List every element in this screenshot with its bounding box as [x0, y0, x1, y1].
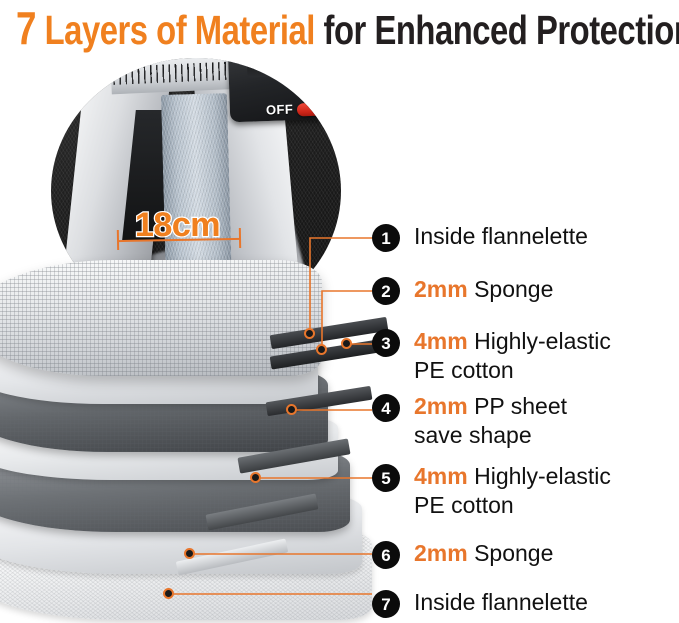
layer-5-measure: 4mm [414, 463, 468, 489]
layer-5-name: Highly-elastic [468, 463, 611, 489]
layer-3-name: Highly-elastic [468, 328, 611, 354]
layer-3-measure: 4mm [414, 328, 468, 354]
layer-label-1-text: Inside flannelette [414, 222, 588, 251]
layer-label-6: 6 2mm Sponge [372, 539, 553, 569]
layer-6-measure: 2mm [414, 540, 468, 566]
layer-4-measure: 2mm [414, 393, 468, 419]
page-title: 7 Layers of Material for Enhanced Protec… [0, 2, 679, 54]
layer-label-3: 3 4mm Highly-elastic PE cotton [372, 327, 611, 385]
layer-badge-1: 1 [372, 224, 400, 252]
layer-label-2: 2 2mm Sponge [372, 275, 553, 305]
leader-dot-2 [316, 344, 327, 355]
leader-dot-3 [341, 338, 352, 349]
layer-7-name: Inside flannelette [414, 589, 588, 615]
layer-label-3-text: 4mm Highly-elastic PE cotton [414, 327, 611, 385]
layer-1-name: Inside flannelette [414, 223, 588, 249]
layer-6-name: Sponge [468, 540, 554, 566]
title-seven: 7 [16, 2, 36, 54]
infographic-canvas: 7 Layers of Material for Enhanced Protec… [0, 0, 679, 623]
layer-label-5-text: 4mm Highly-elastic PE cotton [414, 462, 611, 520]
layer-badge-5: 5 [372, 464, 400, 492]
layer-label-7: 7 Inside flannelette [372, 588, 588, 618]
title-dark-part: for Enhanced Protection [315, 7, 679, 53]
layer-stack-illustration [0, 198, 390, 623]
layer-badge-4: 4 [372, 394, 400, 422]
title-orange-part: Layers of Material [36, 7, 315, 53]
caliper-display-screen [247, 58, 334, 77]
layer-4-name-line2: save shape [414, 421, 567, 450]
layer-badge-6: 6 [372, 541, 400, 569]
layer-badge-7: 7 [372, 590, 400, 618]
leader-dot-4 [286, 404, 297, 415]
leader-dot-7 [163, 588, 174, 599]
layer-badge-3: 3 [372, 329, 400, 357]
layer-label-4: 4 2mm PP sheet save shape [372, 392, 567, 450]
layer-2-name: Sponge [468, 276, 554, 302]
caliper-power-button-icon [297, 103, 322, 117]
caliper-off-label: OFF [266, 102, 294, 118]
layer-3-name-line2: PE cotton [414, 356, 611, 385]
leader-dot-6 [184, 548, 195, 559]
title-text: 7 Layers of Material for Enhanced Protec… [16, 6, 679, 52]
layer-2-measure: 2mm [414, 276, 468, 302]
layer-label-5: 5 4mm Highly-elastic PE cotton [372, 462, 611, 520]
layer-label-4-text: 2mm PP sheet save shape [414, 392, 567, 450]
layer-5-name-line2: PE cotton [414, 491, 611, 520]
layer-label-7-text: Inside flannelette [414, 588, 588, 617]
leader-dot-5 [250, 472, 261, 483]
layer-label-1: 1 Inside flannelette [372, 222, 588, 252]
leader-dot-1 [304, 328, 315, 339]
layer-badge-2: 2 [372, 277, 400, 305]
layer-label-2-text: 2mm Sponge [414, 275, 553, 304]
layer-4-name: PP sheet [468, 393, 567, 419]
layer-label-6-text: 2mm Sponge [414, 539, 553, 568]
